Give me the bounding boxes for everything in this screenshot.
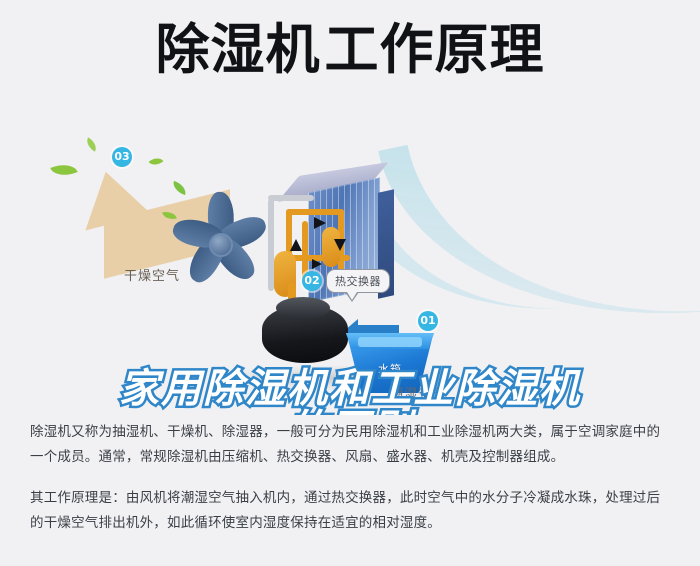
page-title: 除湿机工作原理	[0, 22, 700, 79]
label-moist-air: 潮湿空气	[390, 383, 446, 402]
leaf-icon	[84, 137, 100, 151]
badge-01: 01	[418, 311, 438, 331]
refrigerant-pipe	[286, 209, 344, 215]
flow-arrow-right-icon	[312, 259, 322, 269]
overlay-headline-line-2: 的区别	[0, 411, 700, 415]
water-tank-inner	[358, 337, 422, 347]
flow-arrow-down-icon	[334, 239, 346, 251]
body-paragraph-2: 其工作原理是：由风机将潮湿空气抽入机内，通过热交换器，此时空气中的水分子冷凝成水…	[30, 486, 670, 536]
page-title-part-2: 工作原理	[325, 22, 545, 79]
body-paragraph-1: 除湿机又称为抽湿机、干燥机、除湿器，一般可分为民用除湿机和工业除湿机两大类，属于…	[30, 420, 670, 470]
body-copy: 除湿机又称为抽湿机、干燥机、除湿器，一般可分为民用除湿机和工业除湿机两大类，属于…	[30, 420, 670, 536]
leaf-icon	[50, 159, 77, 181]
flow-arrow-right-icon	[314, 217, 326, 229]
infographic-page: 除湿机工作原理	[0, 0, 700, 566]
page-title-part-1: 除湿机	[156, 22, 321, 79]
badge-03: 03	[112, 147, 132, 167]
label-dry-air: 干燥空气	[124, 265, 180, 284]
compressor-unit	[262, 305, 348, 363]
compressor-ring	[276, 297, 330, 319]
badge-02: 02	[302, 271, 322, 291]
flow-arrow-up-icon	[290, 239, 302, 251]
refrigerant-pipe	[268, 195, 314, 201]
callout-heat-exchanger: 热交换器	[326, 269, 390, 293]
dehumidifier-diagram: 水箱 03 02 01 热交换器 干燥空气 潮湿空气 02 潮湿空气经过蒸发器冷…	[0, 125, 700, 415]
water-tank-label: 水箱	[342, 361, 438, 377]
fan-hub	[209, 233, 233, 257]
